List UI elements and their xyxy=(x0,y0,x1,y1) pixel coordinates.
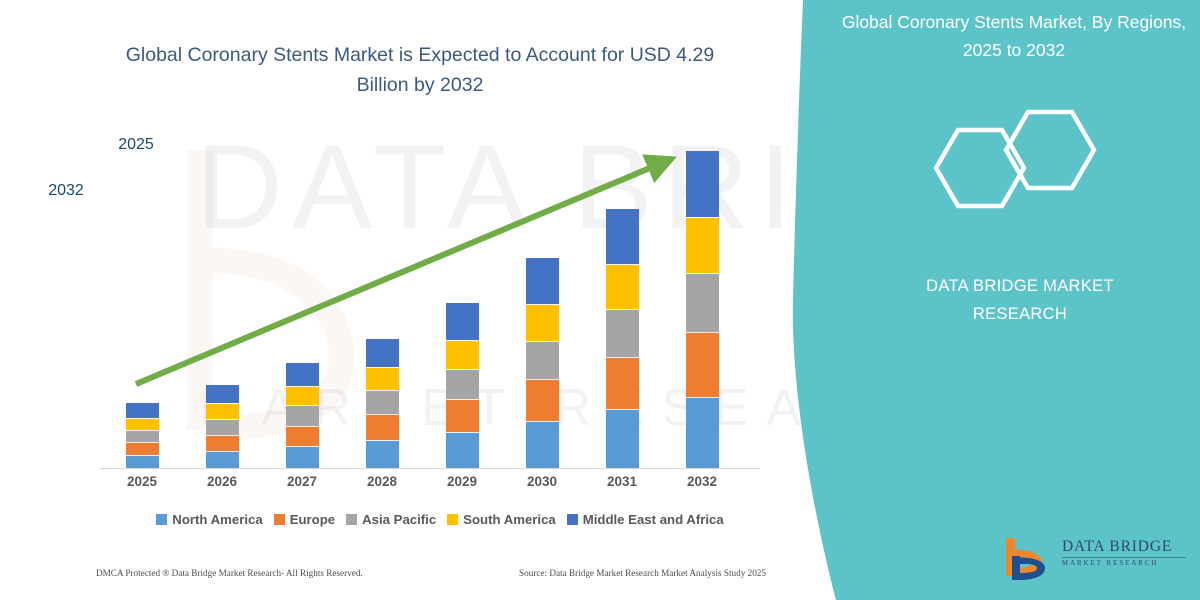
bar-segment xyxy=(366,440,399,468)
footer: DMCA Protected ® Data Bridge Market Rese… xyxy=(60,568,800,578)
x-axis-label: 2029 xyxy=(427,474,497,489)
x-axis-label: 2030 xyxy=(507,474,577,489)
x-axis-label: 2028 xyxy=(347,474,417,489)
legend-swatch-icon xyxy=(346,514,357,525)
bar-segment xyxy=(126,442,159,455)
stacked-bar xyxy=(206,385,239,468)
x-axis-label: 2027 xyxy=(267,474,337,489)
bar-segment xyxy=(206,435,239,451)
bar-segment xyxy=(366,414,399,439)
bar-segment xyxy=(606,264,639,309)
bar-group xyxy=(598,209,646,468)
legend-swatch-icon xyxy=(447,514,458,525)
legend-item[interactable]: Asia Pacific xyxy=(346,512,436,527)
bar-segment xyxy=(686,217,719,274)
legend-item[interactable]: North America xyxy=(156,512,262,527)
bar-segment xyxy=(686,332,719,398)
bar-segment xyxy=(126,430,159,442)
stacked-bar xyxy=(286,363,319,468)
bar-group xyxy=(358,339,406,468)
bar-segment xyxy=(206,451,239,468)
page-title: Global Coronary Stents Market is Expecte… xyxy=(100,40,740,100)
bar-segment xyxy=(606,309,639,356)
bar-segment xyxy=(366,367,399,390)
bar-segment xyxy=(286,426,319,446)
legend-item[interactable]: Middle East and Africa xyxy=(567,512,724,527)
bar-segment xyxy=(126,418,159,430)
bar-segment xyxy=(686,151,719,217)
year-hexagons xyxy=(920,108,1110,228)
bar-segment xyxy=(126,455,159,468)
bar-segment xyxy=(126,403,159,417)
bar-segment xyxy=(366,339,399,367)
legend-swatch-icon xyxy=(567,514,578,525)
logo-subtitle: MARKET RESEARCH xyxy=(1062,559,1188,569)
legend-swatch-icon xyxy=(274,514,285,525)
stacked-bar xyxy=(366,339,399,468)
legend-label: Europe xyxy=(290,512,335,527)
bar-segment xyxy=(206,385,239,403)
bar-segment xyxy=(686,397,719,468)
bar-segment xyxy=(286,363,319,386)
logo-wordmark: DATA BRIDGE MARKET RESEARCH xyxy=(1062,538,1188,569)
bar-group xyxy=(198,385,246,468)
bar-segment xyxy=(366,390,399,414)
footer-copyright: DMCA Protected ® Data Bridge Market Rese… xyxy=(96,568,363,578)
footer-source: Source: Data Bridge Market Research Mark… xyxy=(519,568,766,578)
bar-group xyxy=(518,258,566,468)
bar-group xyxy=(118,403,166,468)
bar-segment xyxy=(526,421,559,468)
bar-segment xyxy=(206,403,239,418)
legend-item[interactable]: South America xyxy=(447,512,556,527)
legend-label: Middle East and Africa xyxy=(583,512,724,527)
bar-segment xyxy=(286,405,319,425)
bar-segment xyxy=(206,419,239,435)
bar-segment xyxy=(446,399,479,431)
bar-segment xyxy=(446,303,479,339)
bar-group xyxy=(678,151,726,468)
bar-segment xyxy=(446,432,479,468)
bar-group xyxy=(438,303,486,468)
bar-segment xyxy=(446,340,479,369)
bar-segment xyxy=(526,379,559,420)
logo-name: DATA BRIDGE xyxy=(1062,538,1188,556)
x-axis-label: 2031 xyxy=(587,474,657,489)
bar-segment xyxy=(526,258,559,304)
stacked-bar xyxy=(526,258,559,468)
panel-brand-text: DATA BRIDGE MARKET RESEARCH xyxy=(880,272,1160,328)
bar-segment xyxy=(286,446,319,468)
stacked-bar xyxy=(446,303,479,468)
x-axis-label: 2026 xyxy=(187,474,257,489)
stacked-bar xyxy=(606,209,639,468)
legend-label: North America xyxy=(172,512,262,527)
legend-item[interactable]: Europe xyxy=(274,512,335,527)
x-axis-label: 2032 xyxy=(667,474,737,489)
infographic-canvas: DATA BRIDGE MARKET RESEARCH Global Coron… xyxy=(0,0,1200,600)
bar-segment xyxy=(526,304,559,340)
bar-segment xyxy=(446,369,479,399)
stacked-bar xyxy=(126,403,159,468)
bar-segment xyxy=(526,341,559,379)
x-axis-label: 2025 xyxy=(107,474,177,489)
bar-segment xyxy=(606,209,639,265)
chart-legend: North AmericaEuropeAsia PacificSouth Ame… xyxy=(110,512,770,527)
hexagon-2025-label: 2025 xyxy=(92,136,180,154)
panel-title: Global Coronary Stents Market, By Region… xyxy=(840,8,1188,64)
legend-swatch-icon xyxy=(156,514,167,525)
legend-label: South America xyxy=(463,512,556,527)
bar-group xyxy=(278,363,326,468)
stacked-bar xyxy=(686,151,719,468)
logo-divider xyxy=(1062,557,1186,558)
bar-segment xyxy=(606,409,639,468)
bar-segment xyxy=(606,357,639,409)
bar-segment xyxy=(686,273,719,332)
legend-label: Asia Pacific xyxy=(362,512,436,527)
hexagon-2025-shape xyxy=(1006,112,1094,188)
hexagon-2032-label: 2032 xyxy=(22,182,110,200)
bar-segment xyxy=(286,386,319,405)
x-axis-line xyxy=(100,468,760,469)
